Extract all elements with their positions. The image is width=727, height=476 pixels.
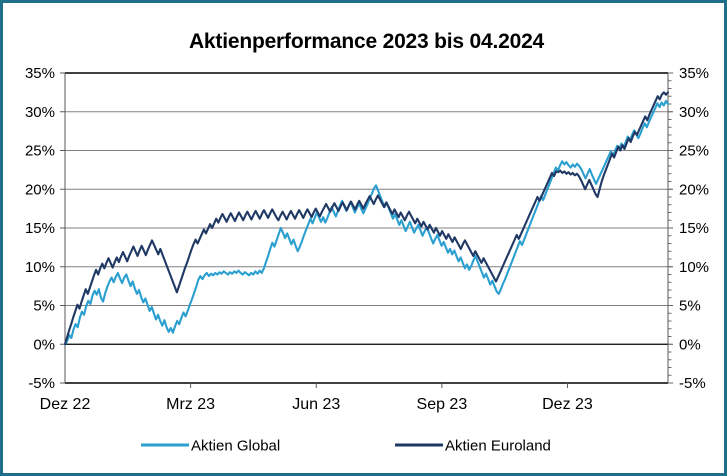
y-tick-left-35%: 35%	[25, 65, 55, 82]
plot-area: 35%30%25%20%15%10%5%0%-5% 35%30%25%20%15…	[3, 3, 727, 476]
x-tick-mrz-23: Mrz 23	[166, 396, 215, 413]
series-line-aktien-euroland	[65, 92, 668, 344]
y-tick-left--5%: -5%	[28, 375, 55, 392]
x-tick-sep-23: Sep 23	[417, 396, 468, 413]
y-tick-right--5%: -5%	[679, 375, 706, 392]
y-tick-left-5%: 5%	[33, 298, 55, 315]
chart-legend: Aktien GlobalAktien Euroland	[141, 438, 551, 455]
grid-lines	[65, 73, 668, 383]
y-tick-left-15%: 15%	[25, 220, 55, 237]
y-tick-left-20%: 20%	[25, 181, 55, 198]
y-tick-right-10%: 10%	[679, 259, 709, 276]
y-tick-left-25%: 25%	[25, 143, 55, 160]
series-line-aktien-global	[65, 101, 668, 344]
x-tick-dez-23: Dez 23	[542, 396, 593, 413]
y-tick-right-5%: 5%	[679, 298, 701, 315]
x-tick-jun-23: Jun 23	[292, 396, 340, 413]
legend-label-aktien-global: Aktien Global	[191, 438, 280, 455]
legend-label-aktien-euroland: Aktien Euroland	[445, 438, 551, 455]
x-axis-labels: Dez 22Mrz 23Jun 23Sep 23Dez 23	[40, 396, 593, 413]
y-axis-left-labels: 35%30%25%20%15%10%5%0%-5%	[25, 65, 55, 392]
x-tick-dez-22: Dez 22	[40, 396, 91, 413]
y-tick-left-0%: 0%	[33, 336, 55, 353]
minor-ticks	[60, 73, 673, 388]
y-tick-left-30%: 30%	[25, 104, 55, 121]
y-axis-right-labels: 35%30%25%20%15%10%5%0%-5%	[679, 65, 709, 392]
y-tick-right-0%: 0%	[679, 336, 701, 353]
y-tick-right-15%: 15%	[679, 220, 709, 237]
line-chart-svg: 35%30%25%20%15%10%5%0%-5% 35%30%25%20%15…	[3, 3, 727, 476]
y-tick-right-20%: 20%	[679, 181, 709, 198]
y-tick-right-25%: 25%	[679, 143, 709, 160]
chart-card: Aktienperformance 2023 bis 04.2024 35%30…	[0, 0, 727, 476]
y-tick-right-35%: 35%	[679, 65, 709, 82]
data-series	[65, 92, 668, 344]
y-tick-left-10%: 10%	[25, 259, 55, 276]
y-tick-right-30%: 30%	[679, 104, 709, 121]
